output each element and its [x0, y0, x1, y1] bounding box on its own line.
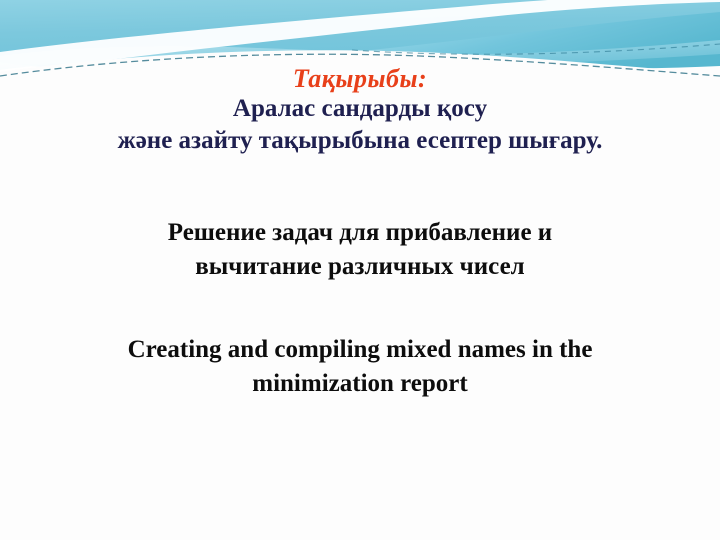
english-subtitle-block: Creating and compiling mixed names in th…: [0, 333, 720, 401]
kazakh-title-line-2: және азайту тақырыбына есептер шығару.: [0, 125, 720, 157]
slide-content: Тақырыбы: Аралас сандарды қосу және азай…: [0, 0, 720, 540]
kazakh-title-block: Тақырыбы: Аралас сандарды қосу және азай…: [0, 64, 720, 157]
english-line-2: minimization report: [0, 367, 720, 401]
russian-line-1: Решение задач для прибавление и: [0, 216, 720, 250]
english-line-1: Creating and compiling mixed names in th…: [0, 333, 720, 367]
kazakh-topic-label: Тақырыбы:: [0, 64, 720, 93]
russian-subtitle-block: Решение задач для прибавление и вычитани…: [0, 216, 720, 283]
russian-line-2: вычитание различных чисел: [0, 250, 720, 284]
presentation-slide: Тақырыбы: Аралас сандарды қосу және азай…: [0, 0, 720, 540]
kazakh-title-line-1: Аралас сандарды қосу: [0, 93, 720, 125]
